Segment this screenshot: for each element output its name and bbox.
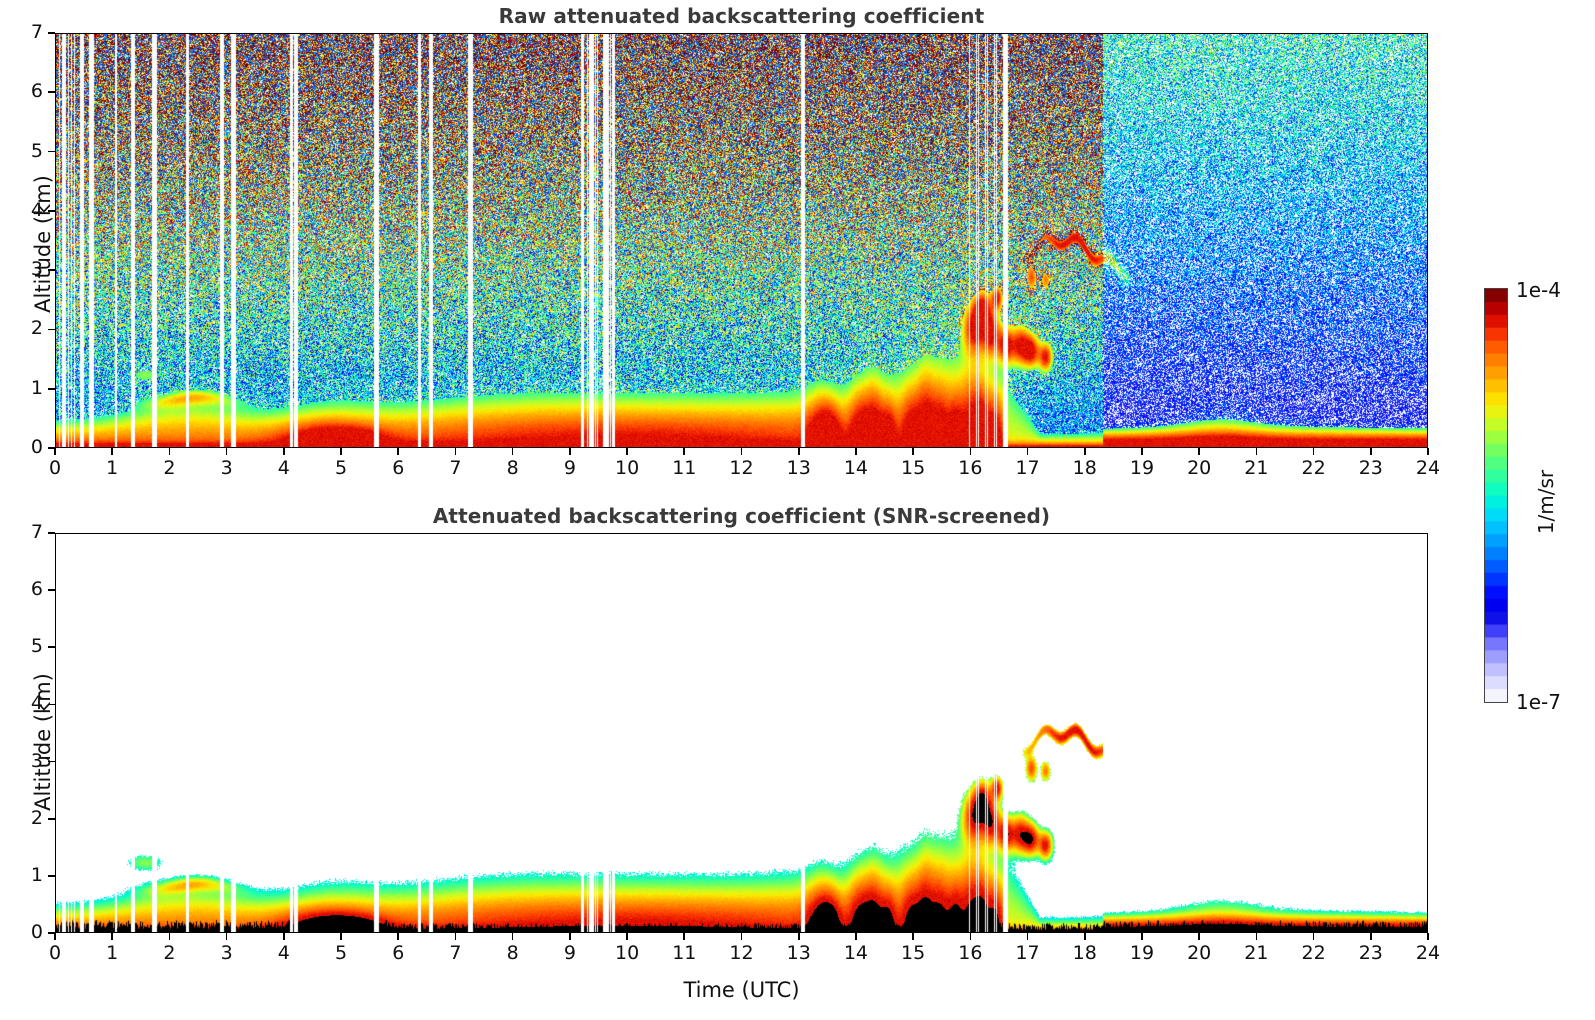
- x-tick-mark-top-13: [798, 448, 800, 455]
- x-tick-mark-top-19: [1141, 448, 1143, 455]
- y-tick-label-top-3: 3: [17, 258, 43, 280]
- y-tick-label-top-4: 4: [17, 199, 43, 221]
- colorbar-unit-label: 1/m/sr: [1534, 442, 1558, 562]
- x-tick-label-top-8: 8: [493, 457, 533, 479]
- x-tick-label-bot-23: 23: [1351, 942, 1391, 964]
- x-tick-label-bot-10: 10: [607, 942, 647, 964]
- x-tick-label-bot-13: 13: [779, 942, 819, 964]
- x-tick-label-bot-12: 12: [722, 942, 762, 964]
- x-tick-label-bot-20: 20: [1179, 942, 1219, 964]
- x-tick-label-bot-17: 17: [1008, 942, 1048, 964]
- y-tick-label-top-0: 0: [17, 436, 43, 458]
- y-tick-label-top-2: 2: [17, 317, 43, 339]
- y-axis-label-raw: Altitude (km): [31, 144, 55, 344]
- y-tick-mark-bot-4: [48, 704, 55, 706]
- x-tick-mark-top-10: [626, 448, 628, 455]
- y-tick-mark-bot-5: [48, 646, 55, 648]
- x-tick-mark-bot-24: [1427, 933, 1429, 940]
- x-tick-label-bot-6: 6: [378, 942, 418, 964]
- x-tick-label-bot-15: 15: [893, 942, 933, 964]
- y-tick-label-top-5: 5: [17, 140, 43, 162]
- x-tick-label-bot-2: 2: [149, 942, 189, 964]
- colorbar[interactable]: [1484, 288, 1508, 703]
- x-tick-mark-top-9: [569, 448, 571, 455]
- x-tick-label-top-10: 10: [607, 457, 647, 479]
- x-tick-label-bot-9: 9: [550, 942, 590, 964]
- y-tick-mark-top-6: [48, 91, 55, 93]
- x-tick-mark-bot-6: [397, 933, 399, 940]
- x-tick-mark-top-22: [1313, 448, 1315, 455]
- x-tick-label-top-7: 7: [435, 457, 475, 479]
- x-tick-label-top-18: 18: [1065, 457, 1105, 479]
- x-tick-mark-bot-3: [226, 933, 228, 940]
- x-tick-mark-bot-0: [54, 933, 56, 940]
- y-tick-mark-top-5: [48, 151, 55, 153]
- x-tick-mark-top-17: [1027, 448, 1029, 455]
- x-tick-label-top-17: 17: [1008, 457, 1048, 479]
- x-tick-label-top-20: 20: [1179, 457, 1219, 479]
- x-tick-label-bot-1: 1: [92, 942, 132, 964]
- x-tick-label-bot-4: 4: [264, 942, 304, 964]
- y-tick-label-top-7: 7: [17, 21, 43, 43]
- y-tick-mark-top-0: [48, 447, 55, 449]
- plot-area-snr-screened[interactable]: [55, 533, 1428, 933]
- x-tick-label-top-0: 0: [35, 457, 75, 479]
- x-tick-mark-top-8: [512, 448, 514, 455]
- x-tick-label-top-11: 11: [664, 457, 704, 479]
- x-tick-mark-bot-5: [340, 933, 342, 940]
- x-tick-label-top-2: 2: [149, 457, 189, 479]
- lidar-quicklook-figure: Raw attenuated backscattering coefficien…: [0, 0, 1595, 1020]
- x-tick-mark-top-16: [970, 448, 972, 455]
- y-tick-mark-top-4: [48, 210, 55, 212]
- colorbar-max-label: 1e-4: [1516, 278, 1561, 302]
- x-tick-label-bot-5: 5: [321, 942, 361, 964]
- colorbar-min-label: 1e-7: [1516, 690, 1561, 714]
- x-tick-label-bot-22: 22: [1294, 942, 1334, 964]
- x-tick-label-top-14: 14: [836, 457, 876, 479]
- x-tick-label-bot-7: 7: [435, 942, 475, 964]
- x-tick-mark-bot-11: [683, 933, 685, 940]
- x-tick-label-top-22: 22: [1294, 457, 1334, 479]
- x-tick-label-bot-11: 11: [664, 942, 704, 964]
- x-tick-mark-bot-22: [1313, 933, 1315, 940]
- y-tick-label-bot-0: 0: [17, 921, 43, 943]
- x-tick-mark-bot-4: [283, 933, 285, 940]
- x-tick-mark-bot-13: [798, 933, 800, 940]
- x-tick-mark-bot-15: [912, 933, 914, 940]
- y-tick-label-top-1: 1: [17, 377, 43, 399]
- x-tick-label-top-4: 4: [264, 457, 304, 479]
- y-tick-mark-bot-1: [48, 875, 55, 877]
- x-tick-label-bot-19: 19: [1122, 942, 1162, 964]
- x-tick-mark-bot-19: [1141, 933, 1143, 940]
- x-tick-mark-top-21: [1256, 448, 1258, 455]
- y-tick-mark-bot-3: [48, 761, 55, 763]
- x-tick-mark-top-24: [1427, 448, 1429, 455]
- x-tick-label-top-23: 23: [1351, 457, 1391, 479]
- x-tick-mark-top-14: [855, 448, 857, 455]
- y-tick-label-bot-3: 3: [17, 750, 43, 772]
- y-tick-mark-bot-6: [48, 589, 55, 591]
- y-tick-mark-top-1: [48, 388, 55, 390]
- x-tick-label-bot-18: 18: [1065, 942, 1105, 964]
- x-tick-label-top-24: 24: [1408, 457, 1448, 479]
- plot-area-raw[interactable]: [55, 33, 1428, 448]
- x-tick-label-bot-3: 3: [207, 942, 247, 964]
- x-tick-label-top-3: 3: [207, 457, 247, 479]
- y-tick-mark-top-3: [48, 269, 55, 271]
- x-tick-mark-top-15: [912, 448, 914, 455]
- x-tick-mark-bot-20: [1198, 933, 1200, 940]
- y-tick-mark-top-2: [48, 329, 55, 331]
- x-tick-mark-bot-10: [626, 933, 628, 940]
- x-tick-mark-bot-18: [1084, 933, 1086, 940]
- x-tick-mark-bot-16: [970, 933, 972, 940]
- x-tick-label-bot-16: 16: [950, 942, 990, 964]
- x-tick-label-bot-24: 24: [1408, 942, 1448, 964]
- x-tick-mark-top-6: [397, 448, 399, 455]
- x-tick-mark-bot-2: [169, 933, 171, 940]
- x-tick-mark-top-1: [111, 448, 113, 455]
- x-tick-mark-top-5: [340, 448, 342, 455]
- x-tick-mark-top-2: [169, 448, 171, 455]
- x-tick-mark-bot-7: [455, 933, 457, 940]
- x-tick-label-bot-0: 0: [35, 942, 75, 964]
- x-tick-mark-top-4: [283, 448, 285, 455]
- x-axis-label: Time (UTC): [55, 978, 1428, 1002]
- y-tick-label-bot-5: 5: [17, 635, 43, 657]
- y-tick-mark-bot-2: [48, 818, 55, 820]
- x-tick-label-top-12: 12: [722, 457, 762, 479]
- x-tick-label-top-16: 16: [950, 457, 990, 479]
- panel-title-raw: Raw attenuated backscattering coefficien…: [55, 4, 1428, 28]
- x-tick-mark-top-3: [226, 448, 228, 455]
- x-tick-mark-bot-12: [741, 933, 743, 940]
- x-tick-mark-bot-21: [1256, 933, 1258, 940]
- x-tick-label-bot-8: 8: [493, 942, 533, 964]
- x-tick-mark-top-18: [1084, 448, 1086, 455]
- x-tick-mark-top-0: [54, 448, 56, 455]
- x-tick-mark-bot-17: [1027, 933, 1029, 940]
- x-tick-label-top-1: 1: [92, 457, 132, 479]
- x-tick-label-top-5: 5: [321, 457, 361, 479]
- y-tick-label-bot-7: 7: [17, 521, 43, 543]
- x-tick-label-bot-21: 21: [1236, 942, 1276, 964]
- x-tick-label-top-6: 6: [378, 457, 418, 479]
- x-tick-label-bot-14: 14: [836, 942, 876, 964]
- x-tick-mark-bot-8: [512, 933, 514, 940]
- x-tick-mark-top-23: [1370, 448, 1372, 455]
- y-tick-label-bot-4: 4: [17, 692, 43, 714]
- x-tick-mark-bot-23: [1370, 933, 1372, 940]
- x-tick-mark-top-12: [741, 448, 743, 455]
- x-tick-label-top-15: 15: [893, 457, 933, 479]
- x-tick-label-top-21: 21: [1236, 457, 1276, 479]
- x-tick-label-top-13: 13: [779, 457, 819, 479]
- x-tick-mark-top-20: [1198, 448, 1200, 455]
- y-tick-label-bot-1: 1: [17, 864, 43, 886]
- x-tick-mark-top-7: [455, 448, 457, 455]
- x-tick-label-top-19: 19: [1122, 457, 1162, 479]
- x-tick-mark-bot-9: [569, 933, 571, 940]
- y-tick-mark-bot-7: [48, 532, 55, 534]
- x-tick-mark-bot-1: [111, 933, 113, 940]
- y-tick-label-bot-6: 6: [17, 578, 43, 600]
- x-tick-mark-top-11: [683, 448, 685, 455]
- x-tick-mark-bot-14: [855, 933, 857, 940]
- x-tick-label-top-9: 9: [550, 457, 590, 479]
- y-tick-label-bot-2: 2: [17, 807, 43, 829]
- panel-title-screened: Attenuated backscattering coefficient (S…: [55, 504, 1428, 528]
- y-tick-mark-bot-0: [48, 932, 55, 934]
- y-tick-mark-top-7: [48, 32, 55, 34]
- y-tick-label-top-6: 6: [17, 80, 43, 102]
